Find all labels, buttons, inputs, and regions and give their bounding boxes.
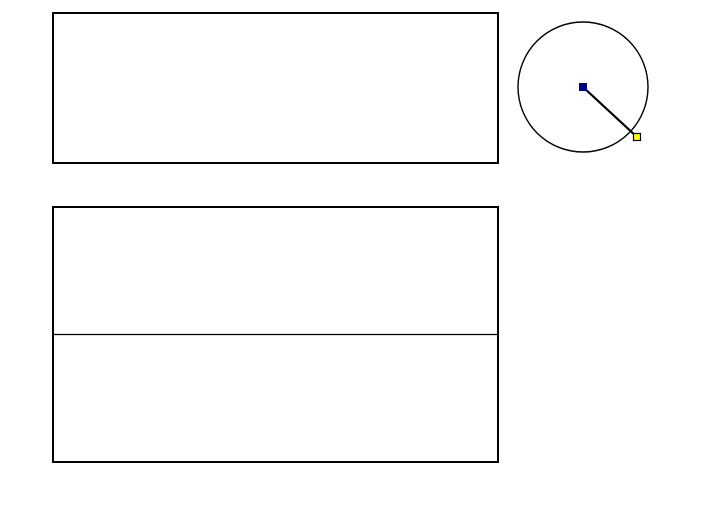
figure-background — [0, 0, 702, 519]
figure-root — [0, 0, 702, 519]
scientific-figure — [0, 0, 702, 519]
center-station-marker — [580, 84, 587, 91]
remote-station-marker — [634, 134, 641, 141]
